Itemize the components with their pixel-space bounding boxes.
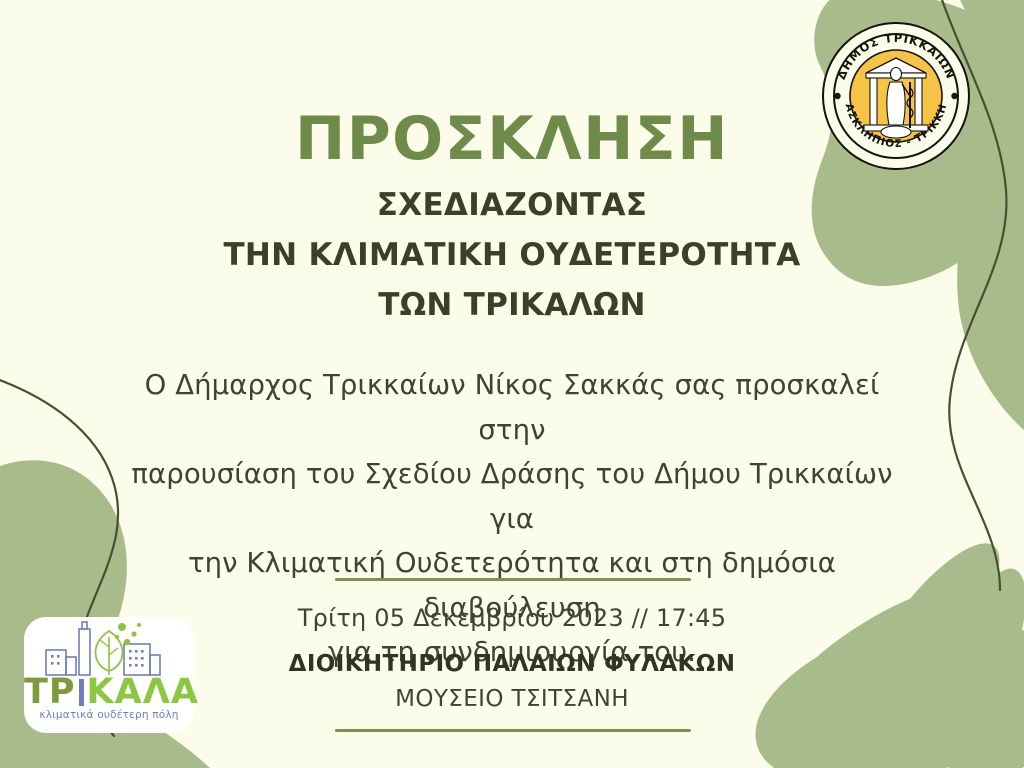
green-dots bbox=[115, 623, 141, 645]
seal-dot-left bbox=[834, 93, 840, 99]
wordmark-iota-bar bbox=[79, 679, 84, 706]
seal-dot-right bbox=[951, 93, 957, 99]
invitation-poster: ΠΡΟΣΚΛΗΣΗ ΣΧΕΔΙΑΖΟΝΤΑΣ ΤΗΝ ΚΛΙΜΑΤΙΚΗ ΟΥΔ… bbox=[0, 0, 1024, 768]
body-line-1: Ο Δήμαρχος Τρικκαίων Νίκος Σακκάς σας πρ… bbox=[112, 363, 912, 452]
trikala-wordmark: ΤΡΚΑΛΑ bbox=[24, 675, 194, 710]
logo-tagline: κλιματικά ουδέτερη πόλη bbox=[24, 709, 194, 721]
subtitle-line-3: ΤΩΝ ΤΡΙΚΑΛΩΝ bbox=[0, 280, 1024, 330]
subtitle-block: ΣΧΕΔΙΑΖΟΝΤΑΣ ΤΗΝ ΚΛΙΜΑΤΙΚΗ ΟΥΔΕΤΕΡΟΤΗΤΑ … bbox=[0, 180, 1024, 331]
trikala-logo-card: ΤΡΚΑΛΑ κλιματικά ουδέτερη πόλη bbox=[24, 617, 194, 733]
wordmark-part-2: ΚΑΛΑ bbox=[87, 672, 199, 712]
municipal-seal: ΔΗΜΟΣ ΤΡΙΚΚΑΙΩΝ ΑΣΚΛΗΠΙΟΣ - ΤΡΙΚΚΗ bbox=[822, 22, 970, 170]
wordmark-part-1: ΤΡ bbox=[24, 672, 76, 712]
divider-bottom bbox=[335, 729, 691, 732]
subtitle-line-2: ΤΗΝ ΚΛΙΜΑΤΙΚΗ ΟΥΔΕΤΕΡΟΤΗΤΑ bbox=[0, 230, 1024, 280]
body-line-2: παρουσίαση του Σχεδίου Δράσης του Δήμου … bbox=[112, 452, 912, 541]
temple-emblem bbox=[864, 58, 928, 138]
subtitle-line-1: ΣΧΕΔΙΑΖΟΝΤΑΣ bbox=[0, 180, 1024, 230]
divider-top bbox=[335, 578, 691, 581]
